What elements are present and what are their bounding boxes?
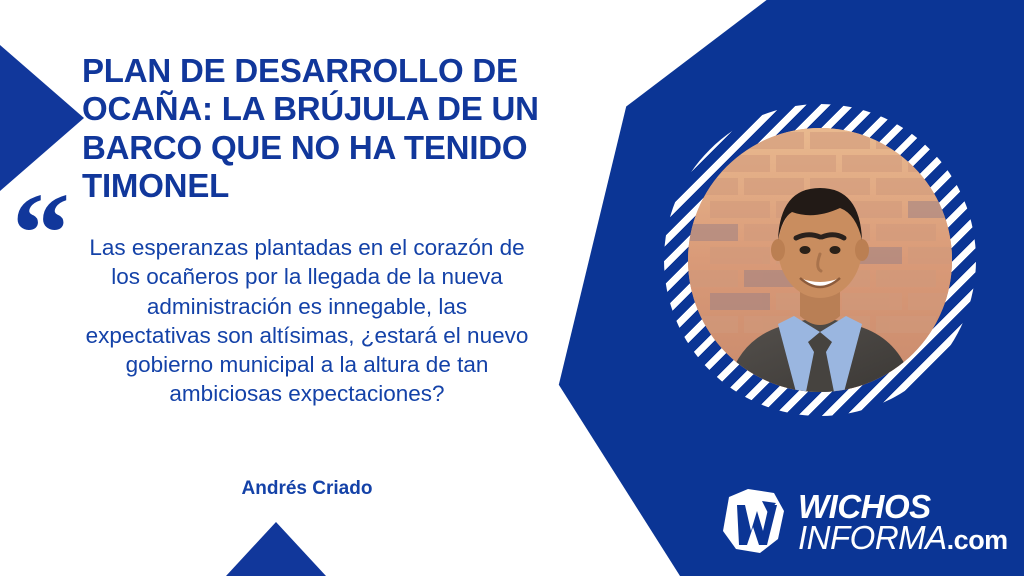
bottom-triangle-decoration [226,522,326,576]
logo-wordmark: WICHOS INFORMA.com [798,491,1008,553]
quote-text: Las esperanzas plantadas en el corazón d… [82,233,532,409]
page-title: PLAN DE DESARROLLO DE OCAÑA: LA BRÚJULA … [82,52,602,205]
portrait-illustration [688,128,952,392]
logo-informa-text: INFORMA [798,519,947,556]
quote-author: Andrés Criado [82,478,532,500]
quote-mark-icon: “ [12,176,70,292]
logo-dotcom-text: .com [947,525,1008,555]
logo-line-wichos: WICHOS [798,491,1008,522]
avatar [688,128,952,392]
w-emblem-icon [718,487,790,557]
logo-line-informa: INFORMA.com [798,522,1008,553]
portrait-frame [664,104,976,416]
site-logo[interactable]: WICHOS INFORMA.com [718,484,1010,560]
poster-canvas: PLAN DE DESARROLLO DE OCAÑA: LA BRÚJULA … [0,0,1024,576]
